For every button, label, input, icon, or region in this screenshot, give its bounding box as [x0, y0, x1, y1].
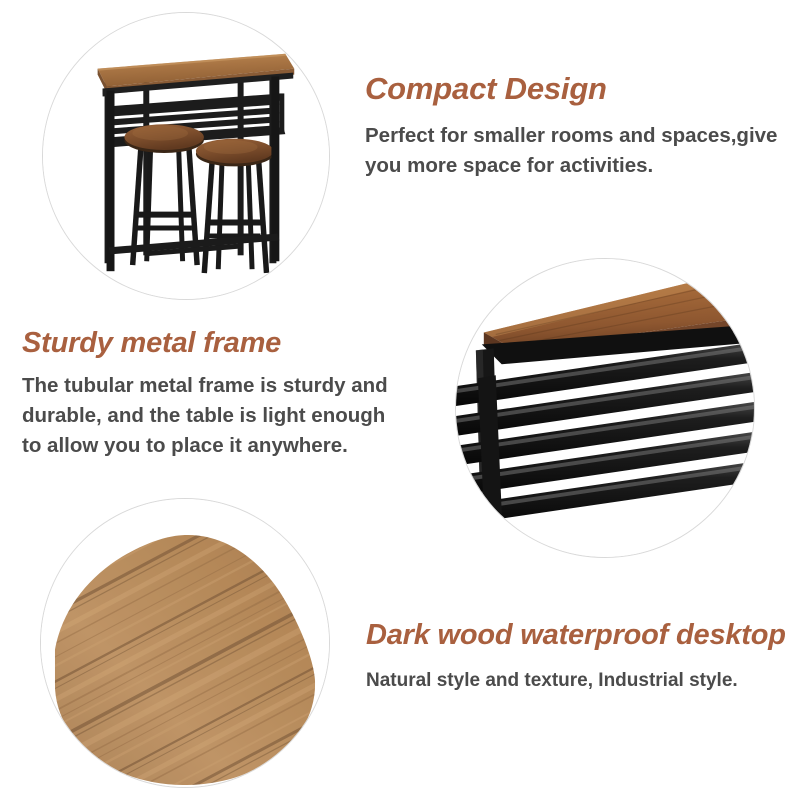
- pub-table-set-illustration: [43, 13, 329, 299]
- feature-heading-compact-design: Compact Design: [365, 70, 785, 108]
- body-line: Natural style and texture, Industrial st…: [366, 666, 796, 695]
- wood-grain-illustration: [41, 499, 329, 787]
- feature-block-dark-wood-desktop: Dark wood waterproof desktop Natural sty…: [366, 617, 796, 695]
- body-line: Perfect for smaller rooms and spaces,giv…: [365, 121, 785, 151]
- body-line: The tubular metal frame is sturdy and: [22, 371, 422, 401]
- feature-block-sturdy-metal-frame: Sturdy metal frame The tubular metal fra…: [22, 325, 422, 461]
- wood-grain-closeup-photo: [40, 498, 330, 788]
- feature-heading-dark-wood-desktop: Dark wood waterproof desktop: [366, 617, 796, 653]
- metal-shelf-closeup-photo: [455, 258, 755, 558]
- feature-body-dark-wood-desktop: Natural style and texture, Industrial st…: [366, 666, 796, 695]
- feature-block-compact-design: Compact Design Perfect for smaller rooms…: [365, 70, 785, 181]
- body-line: you more space for activities.: [365, 151, 785, 181]
- metal-shelf-illustration: [456, 259, 754, 557]
- body-line: to allow you to place it anywhere.: [22, 431, 422, 461]
- pub-table-set-photo: [42, 12, 330, 300]
- infographic-canvas: Compact Design Perfect for smaller rooms…: [0, 0, 800, 800]
- feature-heading-sturdy-metal-frame: Sturdy metal frame: [22, 325, 422, 361]
- feature-body-sturdy-metal-frame: The tubular metal frame is sturdy and du…: [22, 371, 422, 461]
- body-line: durable, and the table is light enough: [22, 401, 422, 431]
- feature-body-compact-design: Perfect for smaller rooms and spaces,giv…: [365, 121, 785, 181]
